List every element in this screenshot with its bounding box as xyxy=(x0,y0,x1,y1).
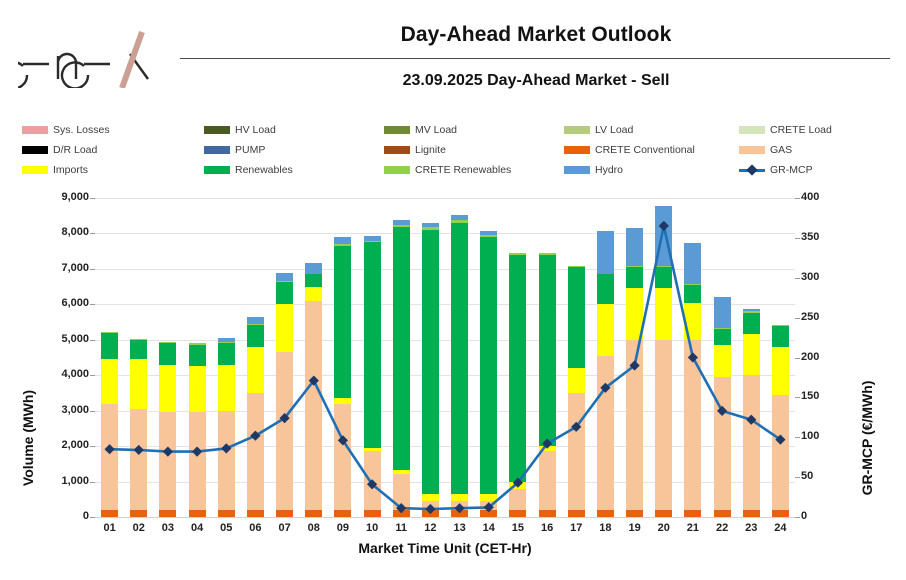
bar-segment-renewables xyxy=(451,223,468,494)
bar-segment-crete-conventional xyxy=(247,510,264,517)
bar-segment-renewables xyxy=(568,267,585,368)
bar-segment-hydro xyxy=(597,231,614,274)
line-marker-icon xyxy=(739,165,765,175)
legend-swatch-icon xyxy=(22,166,48,174)
legend-label: Sys. Losses xyxy=(53,125,110,136)
bar-segment-hydro xyxy=(655,206,672,266)
tick-mark xyxy=(90,269,95,270)
tick-mark xyxy=(90,304,95,305)
bar-segment-gas xyxy=(655,340,672,510)
tick-mark xyxy=(795,358,800,359)
legend-swatch-icon xyxy=(384,126,410,134)
x-axis-tick-24: 24 xyxy=(763,522,797,534)
bar-segment-imports xyxy=(159,365,176,413)
legend-swatch-icon xyxy=(739,146,765,154)
bar-hour-20[interactable] xyxy=(655,206,672,517)
bar-segment-gas xyxy=(480,501,497,510)
legend-swatch-icon xyxy=(204,126,230,134)
gridline xyxy=(95,517,795,518)
bar-segment-renewables xyxy=(218,343,235,365)
legend-swatch-icon xyxy=(384,146,410,154)
bar-segment-imports xyxy=(451,494,468,501)
bar-segment-crete-conventional xyxy=(626,510,643,517)
bar-segment-renewables xyxy=(334,246,351,398)
bar-segment-gas xyxy=(714,377,731,510)
y-axis-tick-right: 150 xyxy=(801,390,855,402)
legend-swatch-icon xyxy=(564,146,590,154)
bar-hour-17[interactable] xyxy=(568,266,585,517)
bar-segment-gas xyxy=(364,451,381,509)
legend-swatch-icon xyxy=(384,166,410,174)
bar-segment-renewables xyxy=(597,274,614,304)
bar-hour-13[interactable] xyxy=(451,215,468,517)
bar-segment-crete-conventional xyxy=(276,510,293,517)
bar-hour-22[interactable] xyxy=(714,297,731,517)
bar-segment-gas xyxy=(334,404,351,510)
y-axis-title-left: Volume (MWh) xyxy=(20,368,36,508)
bar-segment-crete-conventional xyxy=(714,510,731,517)
bar-segment-renewables xyxy=(247,325,264,347)
legend-item-renewables[interactable]: Renewables xyxy=(204,165,384,176)
bar-segment-gas xyxy=(159,412,176,509)
bar-segment-imports xyxy=(305,287,322,301)
bar-hour-08[interactable] xyxy=(305,263,322,517)
bar-segment-gas xyxy=(684,340,701,510)
page-title: Day-Ahead Market Outlook xyxy=(180,12,892,50)
bar-segment-gas xyxy=(597,356,614,510)
y-axis-tick-right: 0 xyxy=(801,510,855,522)
bar-segment-gas xyxy=(189,412,206,509)
bar-hour-21[interactable] xyxy=(684,243,701,517)
legend-label: D/R Load xyxy=(53,145,97,156)
tick-mark xyxy=(90,233,95,234)
legend-item-d-r-load[interactable]: D/R Load xyxy=(22,145,204,156)
bar-segment-renewables xyxy=(422,230,439,494)
bar-segment-imports xyxy=(189,366,206,412)
y-axis-tick-left: 6,000 xyxy=(19,297,89,309)
bar-segment-hydro xyxy=(714,297,731,329)
bar-hour-09[interactable] xyxy=(334,237,351,517)
bar-segment-renewables xyxy=(509,255,526,482)
y-axis-tick-right: 400 xyxy=(801,191,855,203)
bar-segment-imports xyxy=(772,347,789,395)
bar-segment-hydro xyxy=(276,273,293,281)
bar-segment-crete-conventional xyxy=(393,510,410,517)
y-axis-tick-right: 250 xyxy=(801,311,855,323)
bar-segment-imports xyxy=(101,359,118,403)
bar-segment-imports xyxy=(714,345,731,377)
bar-segment-renewables xyxy=(276,282,293,304)
bar-segment-hydro xyxy=(626,228,643,266)
bar-segment-crete-conventional xyxy=(684,510,701,517)
legend-item-crete-conventional[interactable]: CRETE Conventional xyxy=(564,145,739,156)
y-axis-tick-right: 50 xyxy=(801,470,855,482)
bar-segment-hydro xyxy=(684,243,701,284)
bar-segment-imports xyxy=(655,288,672,339)
bar-segment-crete-conventional xyxy=(334,510,351,517)
tick-mark xyxy=(795,278,800,279)
bar-segment-crete-conventional xyxy=(130,510,147,517)
bar-segment-renewables xyxy=(189,345,206,366)
enex-logo xyxy=(18,26,178,88)
y-axis-tick-right: 350 xyxy=(801,231,855,243)
legend-swatch-icon xyxy=(564,166,590,174)
legend-label: CRETE Load xyxy=(770,125,832,136)
page-subtitle: 23.09.2025 Day-Ahead Market - Sell xyxy=(180,59,892,90)
bar-segment-gas xyxy=(772,395,789,510)
bar-segment-renewables xyxy=(480,237,497,494)
chart-header: Day-Ahead Market Outlook 23.09.2025 Day-… xyxy=(0,0,906,112)
legend-item-hydro[interactable]: Hydro xyxy=(564,165,739,176)
bar-hour-02[interactable] xyxy=(130,339,147,517)
gridline xyxy=(95,198,795,199)
bar-segment-renewables xyxy=(159,343,176,365)
bar-segment-crete-conventional xyxy=(422,510,439,517)
legend-item-hv-load[interactable]: HV Load xyxy=(204,125,384,136)
bar-segment-gas xyxy=(305,301,322,510)
tick-mark xyxy=(795,477,800,478)
bar-hour-12[interactable] xyxy=(422,223,439,517)
y-axis-tick-left: 2,000 xyxy=(19,439,89,451)
tick-mark xyxy=(90,482,95,483)
bar-hour-16[interactable] xyxy=(539,253,556,517)
y-axis-tick-right: 100 xyxy=(801,430,855,442)
tick-mark xyxy=(795,437,800,438)
tick-mark xyxy=(795,517,800,518)
legend-item-crete-load[interactable]: CRETE Load xyxy=(739,125,894,136)
y-axis-tick-left: 8,000 xyxy=(19,226,89,238)
bar-segment-gas xyxy=(130,409,147,510)
legend-row: D/R LoadPUMPLigniteCRETE ConventionalGAS xyxy=(22,140,894,160)
legend-swatch-icon xyxy=(22,126,48,134)
legend-swatch-icon xyxy=(739,126,765,134)
tick-mark xyxy=(90,517,95,518)
bar-segment-imports xyxy=(480,494,497,501)
legend-label: CRETE Renewables xyxy=(415,165,511,176)
bar-segment-crete-conventional xyxy=(101,510,118,517)
legend-item-lv-load[interactable]: LV Load xyxy=(564,125,739,136)
chart-plot-area: Volume (MWh) GR-MCP (€/MWh) 01,0002,0003… xyxy=(0,180,906,580)
bar-segment-crete-conventional xyxy=(539,510,556,517)
bar-segment-crete-conventional xyxy=(772,510,789,517)
legend-item-mv-load[interactable]: MV Load xyxy=(384,125,564,136)
legend-label: LV Load xyxy=(595,125,633,136)
chart-legend: Sys. LossesHV LoadMV LoadLV LoadCRETE Lo… xyxy=(22,120,894,180)
bar-segment-crete-conventional xyxy=(451,510,468,517)
bar-segment-imports xyxy=(247,347,264,393)
bar-hour-01[interactable] xyxy=(101,332,118,517)
legend-row: Sys. LossesHV LoadMV LoadLV LoadCRETE Lo… xyxy=(22,120,894,140)
bar-segment-imports xyxy=(684,303,701,340)
tick-mark xyxy=(90,340,95,341)
bar-segment-hydro xyxy=(305,263,322,274)
legend-label: Lignite xyxy=(415,145,446,156)
bar-segment-gas xyxy=(393,474,410,509)
tick-mark xyxy=(795,318,800,319)
bar-segment-imports xyxy=(597,304,614,355)
bar-hour-05[interactable] xyxy=(218,338,235,517)
bar-hour-14[interactable] xyxy=(480,231,497,517)
legend-swatch-icon xyxy=(564,126,590,134)
legend-label: Renewables xyxy=(235,165,293,176)
bar-segment-gas xyxy=(451,501,468,510)
y-axis-tick-left: 9,000 xyxy=(19,191,89,203)
legend-item-sys-losses[interactable]: Sys. Losses xyxy=(22,125,204,136)
legend-item-imports[interactable]: Imports xyxy=(22,165,204,176)
y-axis-title-right: GR-MCP (€/MWh) xyxy=(859,353,875,523)
legend-item-pump[interactable]: PUMP xyxy=(204,145,384,156)
bar-segment-imports xyxy=(422,494,439,501)
bar-segment-gas xyxy=(743,375,760,510)
tick-mark xyxy=(795,238,800,239)
legend-item-gas[interactable]: GAS xyxy=(739,145,894,156)
legend-row: ImportsRenewablesCRETE RenewablesHydroGR… xyxy=(22,160,894,180)
plot-canvas: 01,0002,0003,0004,0005,0006,0007,0008,00… xyxy=(95,198,795,517)
title-block: Day-Ahead Market Outlook 23.09.2025 Day-… xyxy=(180,12,892,108)
y-axis-tick-left: 1,000 xyxy=(19,475,89,487)
bar-segment-renewables xyxy=(130,340,147,359)
bar-segment-gas xyxy=(422,501,439,510)
bar-hour-11[interactable] xyxy=(393,220,410,517)
bar-segment-imports xyxy=(218,365,235,411)
bar-segment-crete-conventional xyxy=(597,510,614,517)
tick-mark xyxy=(90,198,95,199)
y-axis-tick-left: 4,000 xyxy=(19,368,89,380)
bar-segment-imports xyxy=(130,359,147,409)
bar-segment-imports xyxy=(276,304,293,352)
tick-mark xyxy=(90,446,95,447)
y-axis-tick-right: 200 xyxy=(801,351,855,363)
bar-segment-gas xyxy=(218,411,235,510)
bar-segment-renewables xyxy=(772,326,789,347)
legend-label: CRETE Conventional xyxy=(595,145,695,156)
bar-segment-renewables xyxy=(364,242,381,448)
bar-hour-06[interactable] xyxy=(247,317,264,517)
tick-mark xyxy=(90,411,95,412)
bar-segment-gas xyxy=(101,404,118,510)
bar-segment-renewables xyxy=(655,267,672,288)
bar-segment-gas xyxy=(247,393,264,510)
bar-segment-renewables xyxy=(101,333,118,360)
legend-swatch-icon xyxy=(204,146,230,154)
bar-segment-gas xyxy=(626,340,643,510)
bar-hour-07[interactable] xyxy=(276,273,293,517)
legend-swatch-icon xyxy=(204,166,230,174)
bar-segment-renewables xyxy=(743,313,760,334)
bar-segment-crete-conventional xyxy=(655,510,672,517)
legend-item-gr-mcp[interactable]: GR-MCP xyxy=(739,165,894,176)
bar-segment-crete-conventional xyxy=(305,510,322,517)
bar-segment-crete-conventional xyxy=(743,510,760,517)
bar-segment-crete-conventional xyxy=(159,510,176,517)
bar-hour-19[interactable] xyxy=(626,228,643,517)
bar-hour-10[interactable] xyxy=(364,236,381,517)
legend-label: PUMP xyxy=(235,145,265,156)
legend-swatch-icon xyxy=(22,146,48,154)
legend-label: GR-MCP xyxy=(770,165,813,176)
legend-label: Imports xyxy=(53,165,88,176)
bar-segment-renewables xyxy=(684,285,701,303)
bar-segment-gas xyxy=(509,489,526,510)
bar-segment-renewables xyxy=(539,255,556,446)
y-axis-tick-right: 300 xyxy=(801,271,855,283)
bar-segment-crete-conventional xyxy=(364,510,381,517)
bar-segment-crete-conventional xyxy=(568,510,585,517)
bar-hour-23[interactable] xyxy=(743,309,760,517)
bar-hour-03[interactable] xyxy=(159,342,176,517)
bar-segment-crete-conventional xyxy=(509,510,526,517)
bar-hour-18[interactable] xyxy=(597,231,614,517)
gridline xyxy=(95,233,795,234)
bar-segment-renewables xyxy=(305,274,322,286)
bar-hour-15[interactable] xyxy=(509,253,526,517)
tick-mark xyxy=(90,375,95,376)
bar-segment-gas xyxy=(276,352,293,510)
bar-hour-04[interactable] xyxy=(189,343,206,517)
bar-segment-renewables xyxy=(393,227,410,470)
y-axis-tick-left: 0 xyxy=(19,510,89,522)
tick-mark xyxy=(795,198,800,199)
legend-label: MV Load xyxy=(415,125,457,136)
legend-item-lignite[interactable]: Lignite xyxy=(384,145,564,156)
bar-segment-imports xyxy=(568,368,585,393)
legend-label: HV Load xyxy=(235,125,276,136)
bar-segment-imports xyxy=(743,334,760,375)
x-axis-title: Market Time Unit (CET-Hr) xyxy=(95,540,795,556)
legend-label: Hydro xyxy=(595,165,623,176)
y-axis-tick-left: 5,000 xyxy=(19,333,89,345)
bar-segment-renewables xyxy=(626,267,643,288)
bar-segment-gas xyxy=(568,393,585,510)
y-axis-tick-left: 7,000 xyxy=(19,262,89,274)
y-axis-tick-left: 3,000 xyxy=(19,404,89,416)
bar-hour-24[interactable] xyxy=(772,325,789,517)
bar-segment-crete-conventional xyxy=(189,510,206,517)
bar-segment-crete-conventional xyxy=(218,510,235,517)
tick-mark xyxy=(795,397,800,398)
legend-label: GAS xyxy=(770,145,792,156)
bar-segment-imports xyxy=(626,288,643,339)
legend-item-crete-renewables[interactable]: CRETE Renewables xyxy=(384,165,564,176)
bar-segment-crete-conventional xyxy=(480,510,497,517)
bar-segment-gas xyxy=(539,451,556,509)
bar-segment-renewables xyxy=(714,329,731,345)
